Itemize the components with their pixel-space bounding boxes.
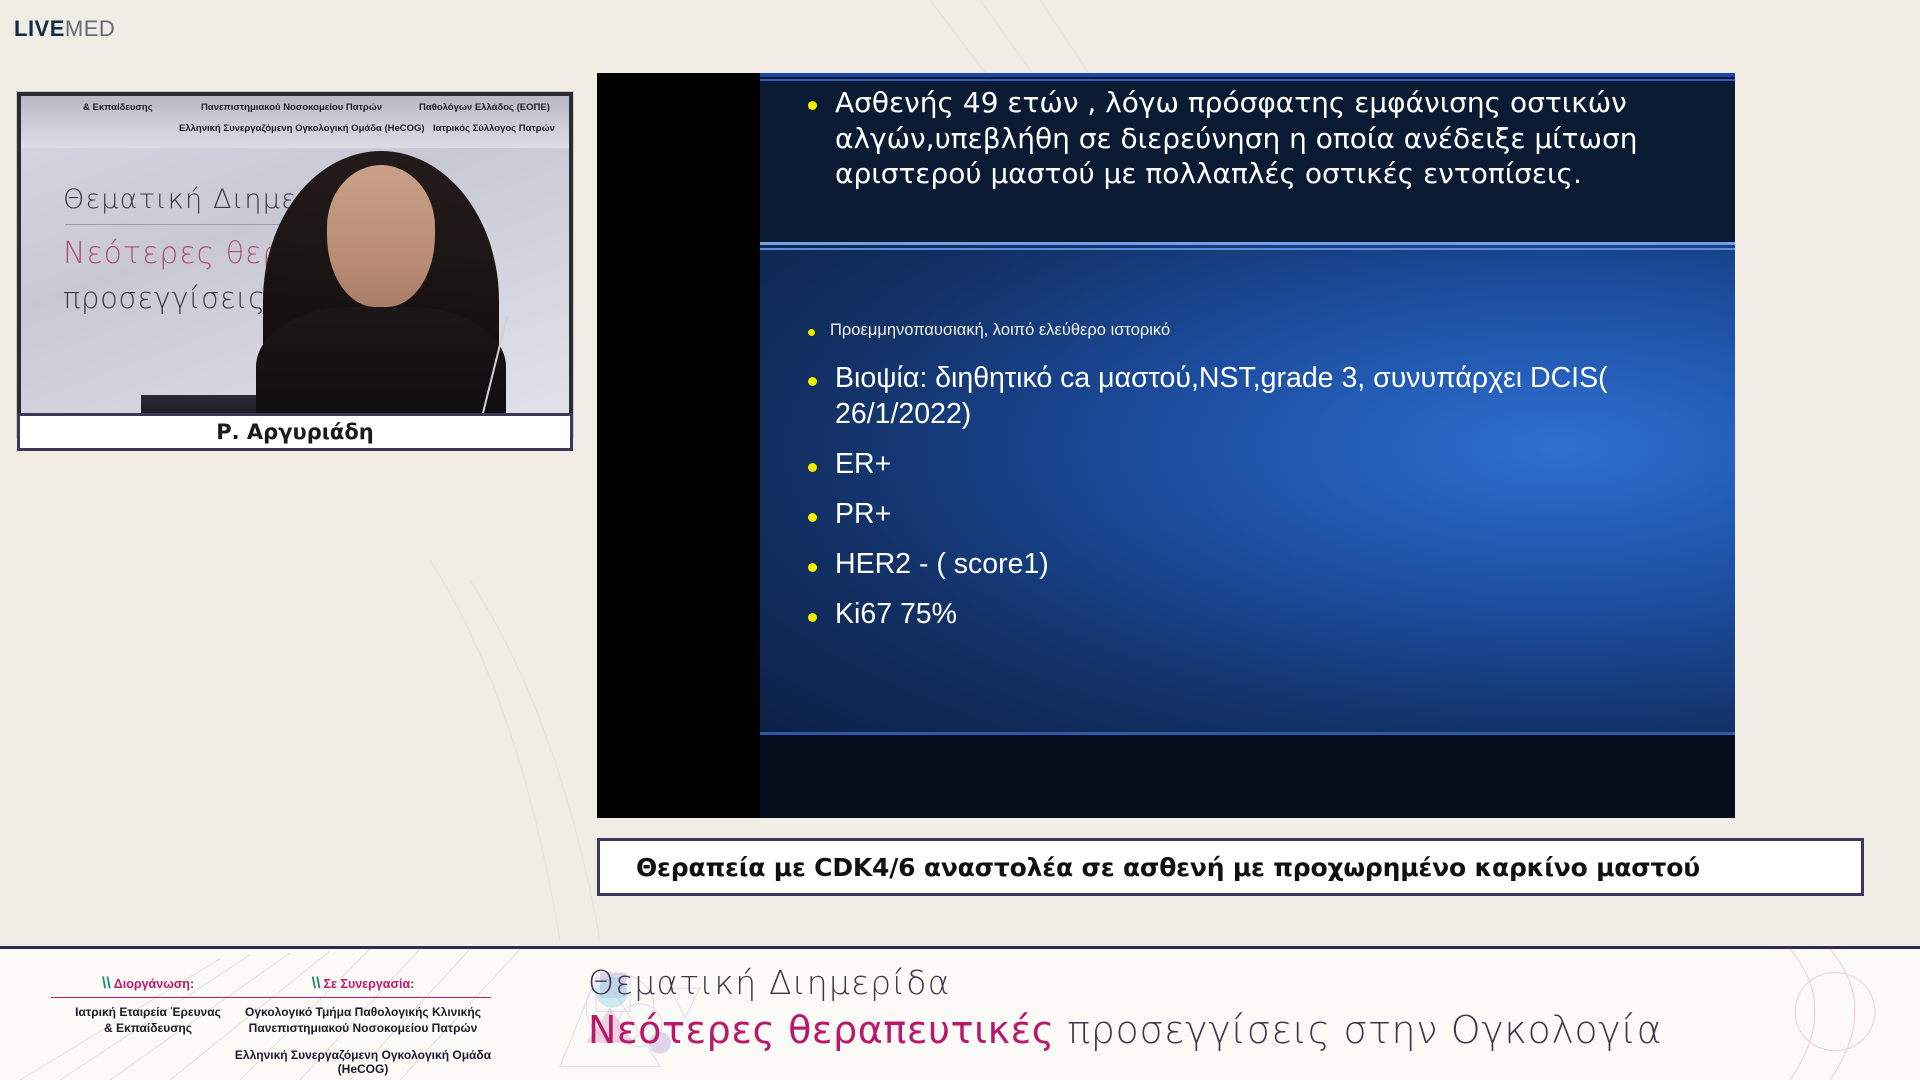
presentation-slide: Ασθενής 49 ετών , λόγω πρόσφατης εμφάνισ… [760,73,1735,818]
event-logo-line2: Νεότερες θεραπευτικές προσεγγίσεις στην … [588,1008,1662,1052]
collaborator-line-1: Ογκολογικό Τμήμα Παθολογικής Κλινικής [218,1004,508,1020]
backdrop-org-left: & Εκπαίδευσης [83,102,153,113]
slide-lead-text: Ασθενής 49 ετών , λόγω πρόσφατης εμφάνισ… [835,85,1718,192]
backdrop-org-center: Πανεπιστημιακού Νοσοκομείου Πατρών [201,102,382,113]
bullet-dot-icon [808,329,815,336]
slide-bullet-text: ER+ [835,447,891,483]
collaborator-block: \\Σε Συνεργασία: Ογκολογικό Τμήμα Παθολο… [218,975,508,1076]
list-item: ER+ [808,447,1728,483]
event-logo-pink: Νεότερες θεραπευτικές [588,1008,1055,1052]
event-banner: \\Διοργάνωση: Ιατρική Εταιρεία Έρευνας &… [0,946,1920,1080]
slide-bottom-band [760,732,1735,818]
slide-top-band: Ασθενής 49 ετών , λόγω πρόσφατης εμφάνισ… [760,73,1735,242]
collaborator-line-2: Πανεπιστημιακού Νοσοκομείου Πατρών [218,1020,508,1036]
bullet-dot-icon [808,613,817,622]
bullet-dot-icon [808,463,817,472]
speaker-name: Ρ. Αργυριάδη [20,416,570,448]
list-item: Βιοψία: διηθητικό ca μαστού,NST,grade 3,… [808,361,1728,433]
slide-bullet-text: Προεμμηνοπαυσιακή, λοιπό ελεύθερο ιστορι… [830,320,1170,341]
list-item: PR+ [808,497,1728,533]
organizer-heading-text: Διοργάνωση: [114,977,194,991]
speaker-video[interactable]: & Εκπαίδευσης Πανεπιστημιακού Νοσοκομείο… [17,92,573,437]
slide-bullet-text: Ki67 75% [835,597,957,633]
session-title: Θεραπεία με CDK4/6 αναστολέα σε ασθενή μ… [600,841,1861,893]
slide-body-band: Προεμμηνοπαυσιακή, λοιπό ελεύθερο ιστορι… [760,242,1735,732]
slide-bullet-text: HER2 - ( score1) [835,547,1049,583]
event-logo-dark: προσεγγίσεις στην Ογκολογία [1055,1008,1663,1052]
session-title-frame: Θεραπεία με CDK4/6 αναστολέα σε ασθενή μ… [597,838,1864,896]
slide-stage[interactable]: Ασθενής 49 ετών , λόγω πρόσφατης εμφάνισ… [597,73,1735,818]
list-item: Ασθενής 49 ετών , λόγω πρόσφατης εμφάνισ… [808,85,1718,192]
speaker-face [327,165,435,307]
backdrop-header: & Εκπαίδευσης Πανεπιστημιακού Νοσοκομείο… [21,96,569,148]
collaborator-hecog: Ελληνική Συνεργαζόμενη Ογκολογική Ομάδα … [218,1048,508,1076]
collaborator-heading-text: Σε Συνεργασία: [324,977,415,991]
list-item: Ki67 75% [808,597,1728,633]
video-frame[interactable]: & Εκπαίδευσης Πανεπιστημιακού Νοσοκομείο… [21,96,569,433]
bullet-dot-icon [808,513,817,522]
brand-logo: LIVEMED [14,18,115,40]
brand-live: LIVE [14,16,65,41]
slide-letterbox: Ασθενής 49 ετών , λόγω πρόσφατης εμφάνισ… [597,73,1735,818]
bullet-dot-icon [808,101,817,110]
backdrop-org-hecog: Ελληνική Συνεργαζόμενη Ογκολογική Ομάδα … [179,123,425,134]
slashes-icon: \\ [102,975,111,992]
bullet-dot-icon [808,377,817,386]
slashes-icon: \\ [312,975,321,992]
bullet-dot-icon [808,563,817,572]
page-root: LIVEMED & Εκπαίδευσης Πανεπιστημιακού Νο… [0,0,1920,1080]
list-item: HER2 - ( score1) [808,547,1728,583]
list-item: Προεμμηνοπαυσιακή, λοιπό ελεύθερο ιστορι… [808,320,1728,341]
slide-lead-list: Ασθενής 49 ετών , λόγω πρόσφατης εμφάνισ… [808,85,1718,192]
speaker-nameplate: Ρ. Αργυριάδη [17,413,573,451]
backdrop-org-right: Παθολόγων Ελλάδος (ΕΟΠΕ) [419,102,550,113]
slide-bullet-text: PR+ [835,497,891,533]
organizer-divider [51,997,245,998]
collaborator-divider [235,997,490,998]
event-logo: Θεματική Διημερίδα Νεότερες θεραπευτικές… [588,963,1662,1052]
backdrop-org-patras: Ιατρικός Σύλλογος Πατρών [433,123,555,134]
brand-med: MED [65,16,115,41]
slide-bullet-text: Βιοψία: διηθητικό ca μαστού,NST,grade 3,… [835,361,1728,433]
collaborator-heading: \\Σε Συνεργασία: [218,975,508,993]
event-logo-line1: Θεματική Διημερίδα [588,963,1662,1002]
slide-bullet-list: Προεμμηνοπαυσιακή, λοιπό ελεύθερο ιστορι… [808,320,1728,647]
speaker-figure [231,143,531,433]
